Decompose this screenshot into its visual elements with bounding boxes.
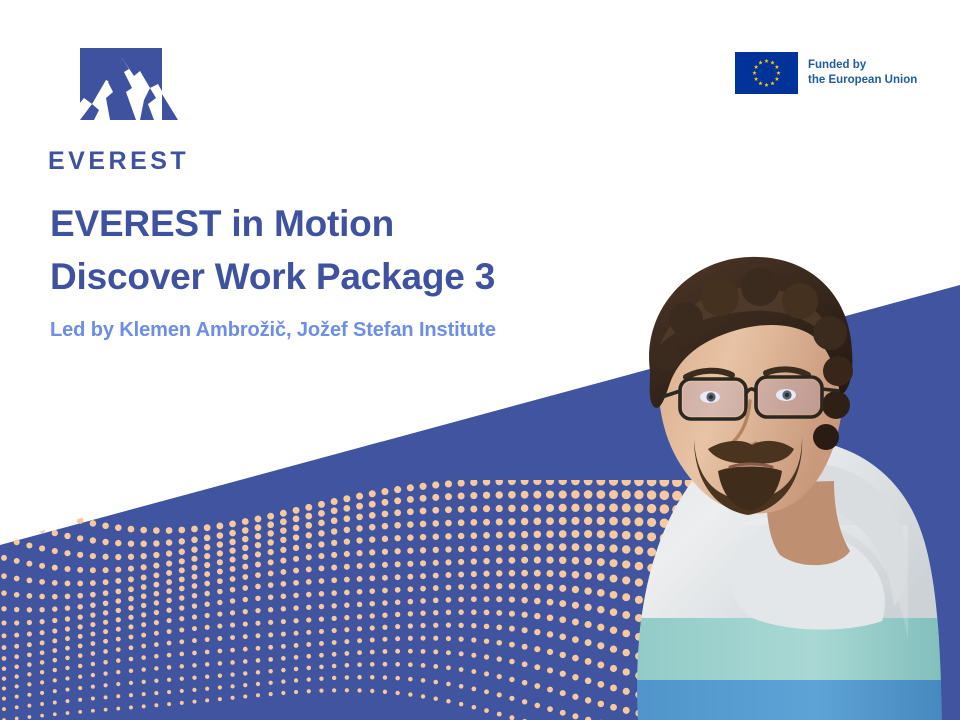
european-union-flag-icon [735,52,798,94]
eu-funding-text: Funded by the European Union [808,58,917,88]
presentation-slide: EVEREST Funded by the European Union EVE… [0,0,960,720]
slide-subtitle: Led by Klemen Ambrožič, Jožef Stefan Ins… [50,317,670,343]
eu-funding-badge: Funded by the European Union [735,52,930,94]
eu-funding-line-1: Funded by [808,58,917,73]
mountain-peak-icon [66,48,196,136]
title-block: EVEREST in Motion Discover Work Package … [50,198,670,343]
everest-wordmark: EVEREST [48,149,228,174]
slide-title-line-1: EVEREST in Motion [50,198,670,251]
everest-logo: EVEREST [48,48,228,173]
slide-title-line-2: Discover Work Package 3 [50,251,670,304]
eu-funding-line-2: the European Union [808,73,917,88]
